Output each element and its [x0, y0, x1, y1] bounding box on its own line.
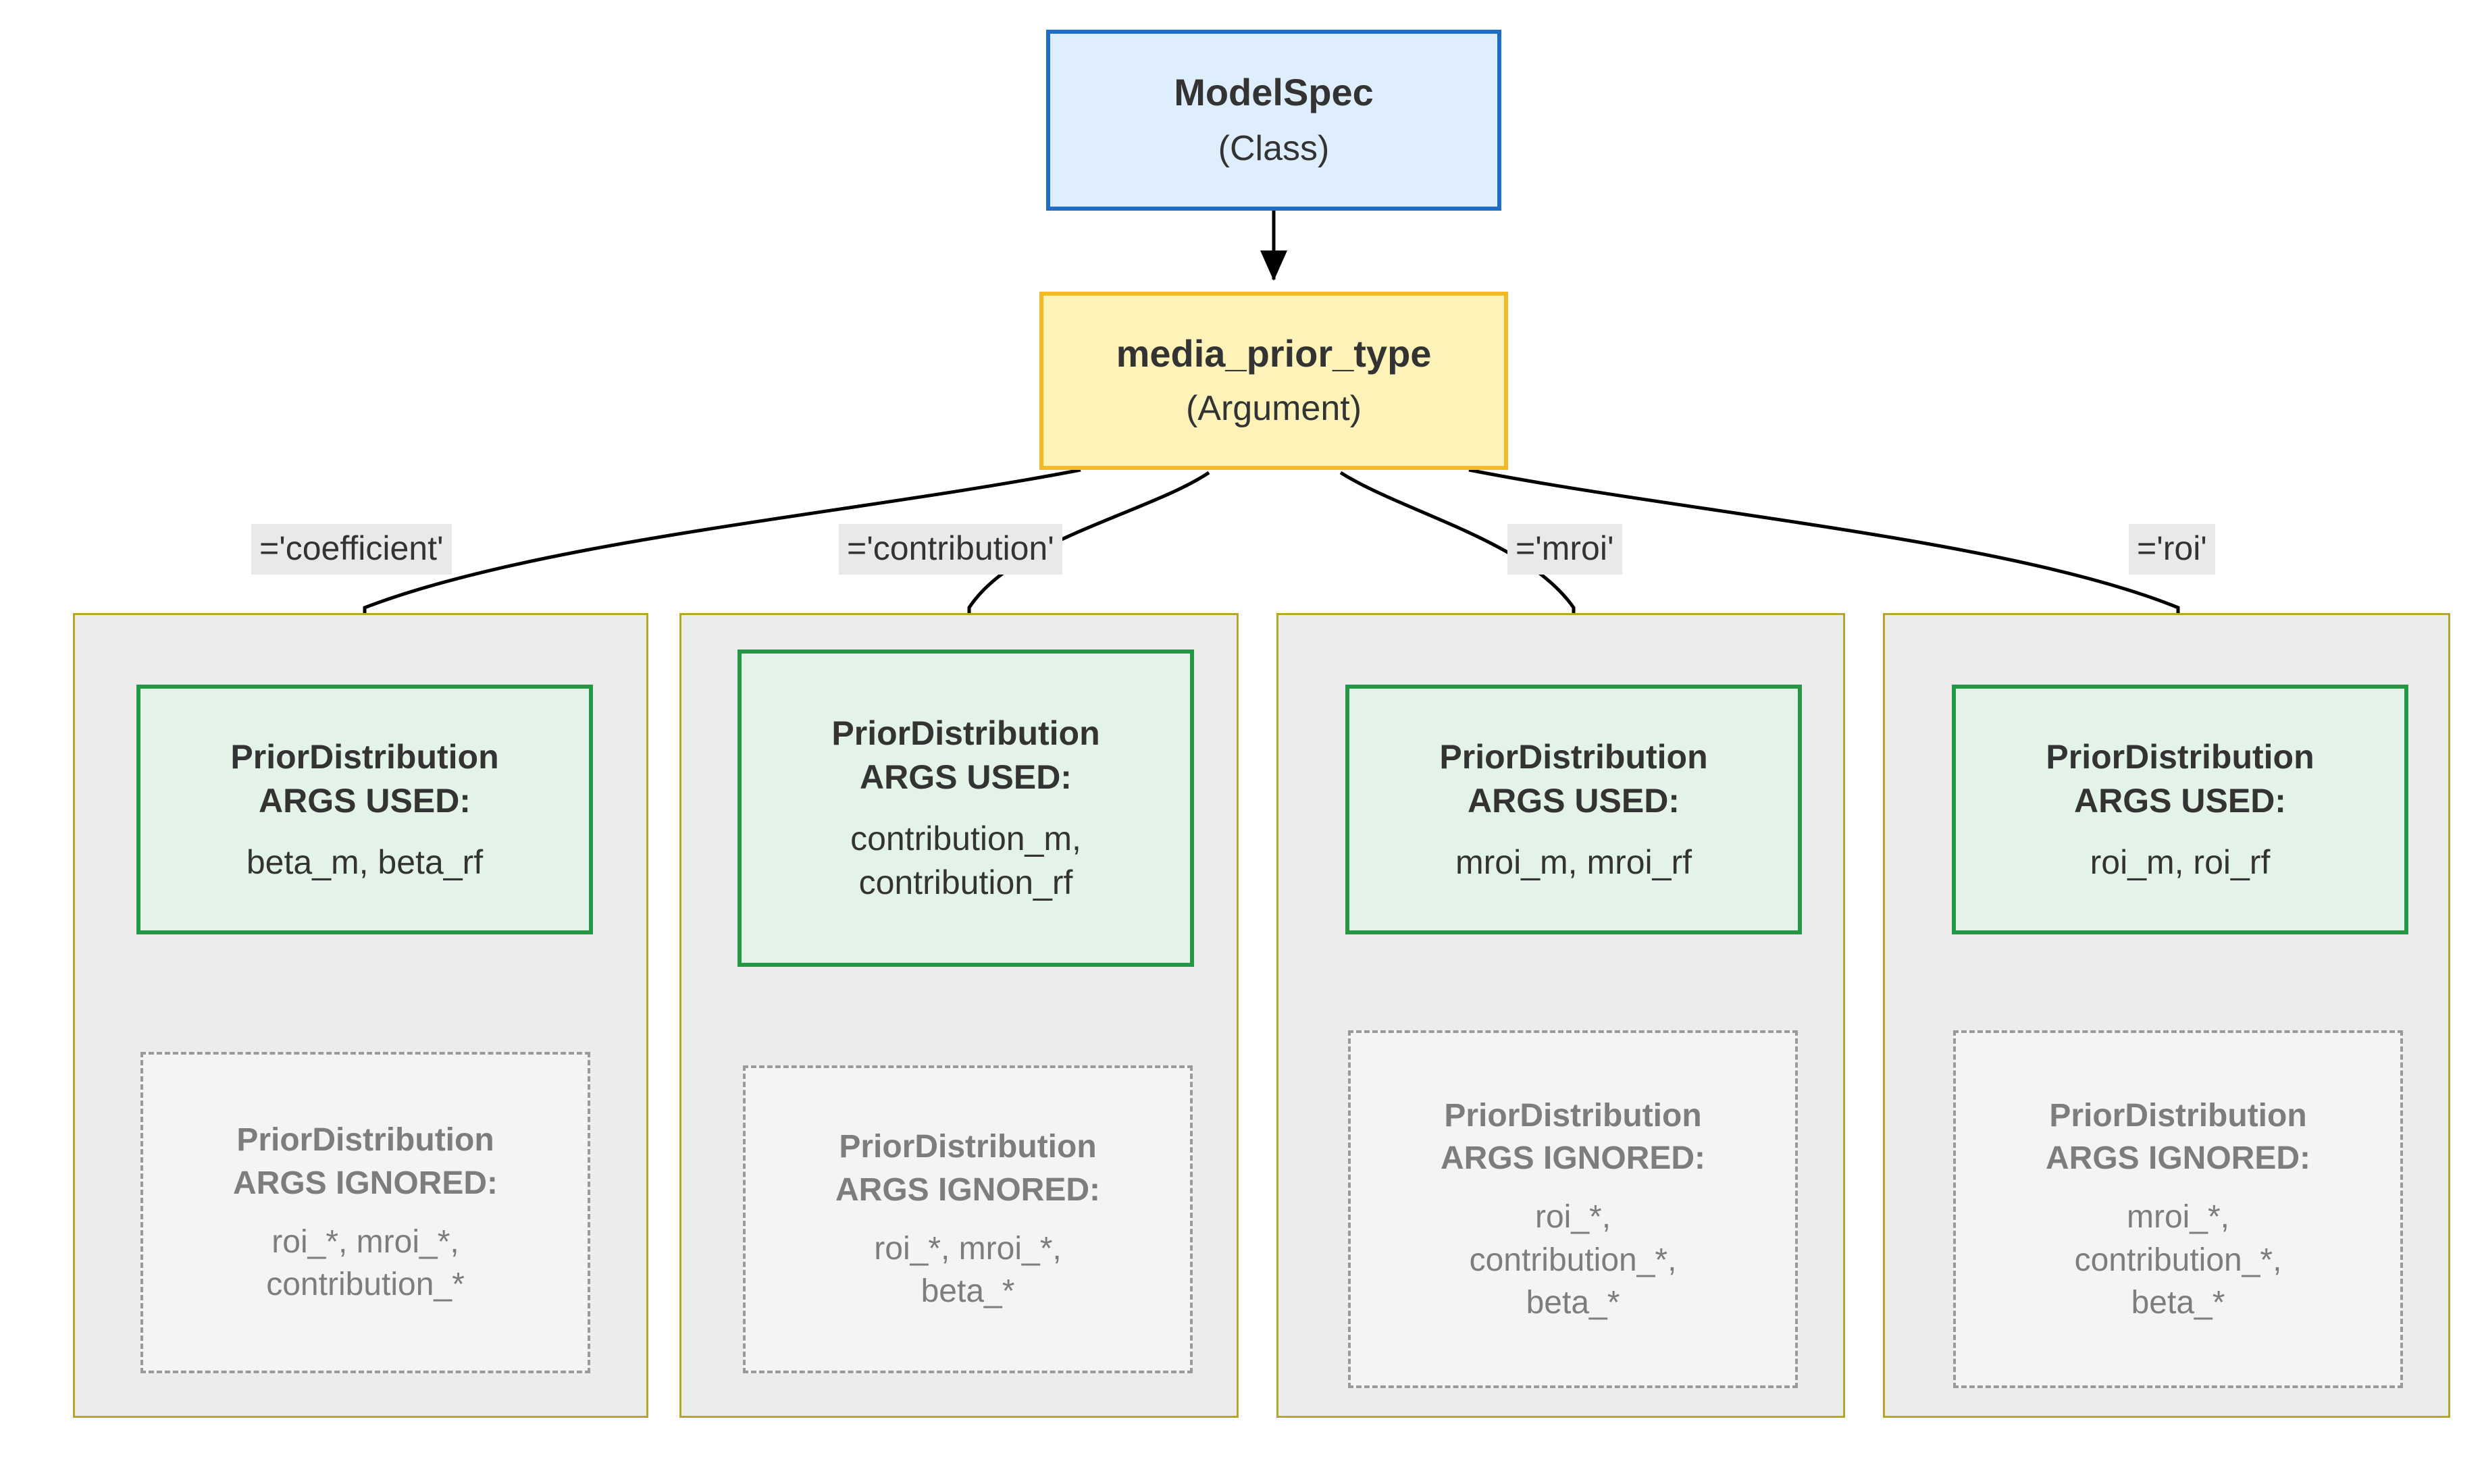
node-contribution-args-used-header-line1: PriorDistribution	[831, 712, 1099, 756]
node-roi-args-ignored-args-line3: beta_*	[2131, 1281, 2225, 1324]
node-coefficient-args-used[interactable]: PriorDistribution ARGS USED: beta_m, bet…	[136, 685, 593, 934]
node-modelspec[interactable]: ModelSpec (Class)	[1046, 30, 1501, 211]
node-media-prior-type[interactable]: media_prior_type (Argument)	[1039, 292, 1508, 470]
node-contribution-args-ignored-header-line2: ARGS IGNORED:	[835, 1169, 1100, 1211]
node-contribution-args-used-header-line2: ARGS USED:	[860, 756, 1072, 799]
node-coefficient-args-ignored-header-line2: ARGS IGNORED:	[233, 1162, 498, 1204]
node-contribution-args-ignored[interactable]: PriorDistribution ARGS IGNORED: roi_*, m…	[743, 1065, 1193, 1373]
node-mroi-args-ignored[interactable]: PriorDistribution ARGS IGNORED: roi_*, c…	[1348, 1030, 1798, 1388]
node-mroi-args-ignored-args-line1: roi_*,	[1535, 1196, 1611, 1238]
node-mroi-args-ignored-args-line2: contribution_*,	[1470, 1239, 1677, 1281]
node-mroi-args-used[interactable]: PriorDistribution ARGS USED: mroi_m, mro…	[1345, 685, 1802, 934]
node-contribution-args-ignored-args-line2: beta_*	[921, 1270, 1015, 1313]
diagram-canvas: ModelSpec (Class) media_prior_type (Argu…	[0, 0, 2484, 1484]
node-roi-args-ignored-args-line1: mroi_*,	[2127, 1196, 2229, 1238]
node-roi-args-ignored[interactable]: PriorDistribution ARGS IGNORED: mroi_*, …	[1953, 1030, 2403, 1388]
node-coefficient-args-used-header-line2: ARGS USED:	[259, 779, 471, 823]
node-mroi-args-ignored-header-line1: PriorDistribution	[1444, 1094, 1701, 1137]
node-roi-args-used[interactable]: PriorDistribution ARGS USED: roi_m, roi_…	[1952, 685, 2408, 934]
node-coefficient-args-used-header-line1: PriorDistribution	[230, 735, 498, 779]
node-modelspec-title: ModelSpec	[1174, 70, 1374, 115]
node-contribution-args-used-args-line2: contribution_rf	[859, 861, 1073, 905]
node-media-prior-type-title: media_prior_type	[1116, 332, 1432, 376]
node-mroi-args-used-args: mroi_m, mroi_rf	[1455, 841, 1692, 884]
node-coefficient-args-ignored-args-line2: contribution_*	[266, 1263, 465, 1306]
node-coefficient-args-used-args: beta_m, beta_rf	[247, 841, 483, 884]
edge-label-coefficient: ='coefficient'	[251, 524, 452, 575]
node-contribution-args-ignored-args-line1: roi_*, mroi_*,	[874, 1227, 1061, 1270]
node-roi-args-ignored-header-line2: ARGS IGNORED:	[2046, 1137, 2310, 1180]
node-media-prior-type-subtitle: (Argument)	[1186, 388, 1362, 429]
node-coefficient-args-ignored[interactable]: PriorDistribution ARGS IGNORED: roi_*, m…	[140, 1052, 590, 1373]
node-contribution-args-used[interactable]: PriorDistribution ARGS USED: contributio…	[738, 650, 1194, 967]
node-modelspec-subtitle: (Class)	[1218, 128, 1330, 169]
node-roi-args-used-header-line2: ARGS USED:	[2074, 779, 2286, 823]
node-contribution-args-ignored-header-line1: PriorDistribution	[839, 1125, 1096, 1168]
edge-label-roi: ='roi'	[2129, 524, 2215, 575]
node-roi-args-used-args: roi_m, roi_rf	[2090, 841, 2271, 884]
edge-label-mroi: ='mroi'	[1507, 524, 1622, 575]
node-contribution-args-used-args-line1: contribution_m,	[850, 817, 1081, 861]
node-mroi-args-used-header-line1: PriorDistribution	[1439, 735, 1707, 779]
node-roi-args-ignored-args-line2: contribution_*,	[2075, 1239, 2282, 1281]
node-roi-args-used-header-line1: PriorDistribution	[2046, 735, 2314, 779]
node-coefficient-args-ignored-header-line1: PriorDistribution	[236, 1119, 494, 1161]
node-mroi-args-ignored-args-line3: beta_*	[1526, 1281, 1620, 1324]
node-mroi-args-ignored-header-line2: ARGS IGNORED:	[1441, 1137, 1705, 1180]
node-mroi-args-used-header-line2: ARGS USED:	[1468, 779, 1680, 823]
node-roi-args-ignored-header-line1: PriorDistribution	[2049, 1094, 2306, 1137]
edge-label-contribution: ='contribution'	[839, 524, 1062, 575]
node-coefficient-args-ignored-args-line1: roi_*, mroi_*,	[271, 1221, 459, 1263]
